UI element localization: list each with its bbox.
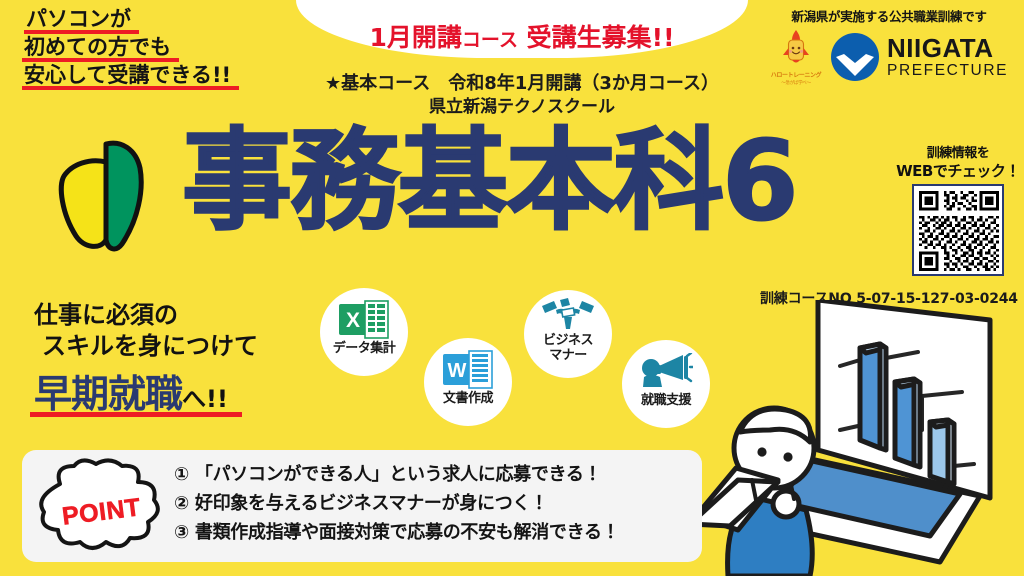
skill-circle-label-manner: ビジネス マナー: [543, 334, 593, 363]
banner-small-text: コース: [462, 29, 518, 51]
early-employment-underline: [30, 412, 242, 417]
early-employment-tail: へ!!: [182, 385, 228, 413]
word-document-icon: W: [442, 350, 494, 390]
skill-circle-label: データ集計: [333, 342, 396, 357]
point-list-item: ③ 書類作成指導や面接対策で応募の不安も解消できる！: [174, 518, 619, 547]
public-training-caption: 新潟県が実施する公共職業訓練です: [762, 6, 1016, 25]
qr-caption-line1: 訓練情報を: [896, 146, 1020, 162]
early-employment-emphasis: 早期就職: [34, 372, 182, 416]
skill-circle-label: 就職支援: [641, 394, 691, 409]
svg-text:X: X: [346, 309, 360, 332]
wakaba-leaf-mark-icon: [48, 134, 168, 254]
skills-headline: 仕事に必須の スキルを身につけて 早期就職へ!!: [34, 300, 258, 418]
top-left-headline-line-3: 安心して受講できる!!: [22, 62, 233, 90]
top-left-line-text: 安心して受講できる!!: [22, 62, 233, 90]
qr-caption-line2: WEBでチェック！: [896, 162, 1020, 180]
person-with-laptop-illustration: [690, 300, 1010, 576]
person-with-laptop-and-bar-chart-icon: [690, 300, 1010, 576]
point-list-item: ② 好印象を与えるビジネスマナーが身につく！: [174, 489, 619, 518]
point-list-item: ① 「パソコンができる人」という求人に応募できる！: [174, 460, 619, 489]
course-schedule-text: ★基本コース 令和8年1月開講（3か月コース）: [296, 72, 748, 96]
business-card-exchange-icon: [540, 298, 596, 332]
qr-block: 訓練情報を WEBでチェック！: [896, 146, 1020, 276]
point-box: POINT ① 「パソコンができる人」という求人に応募できる！ ② 好印象を与え…: [22, 450, 702, 562]
qr-code[interactable]: [912, 184, 1004, 276]
prefecture-block: 新潟県が実施する公共職業訓練です ハロートレーニング 〜急がば学べ〜: [762, 6, 1016, 86]
megaphone-icon: [639, 352, 693, 392]
niigata-prefecture-logo: NIIGATA PREFECTURE: [830, 32, 1008, 82]
poster-canvas: パソコンが 初めての方でも 安心して受講できる!! 1月開講コース 受講生募集!…: [0, 0, 1024, 576]
skills-headline-line2: スキルを身につけて: [42, 331, 258, 362]
prefecture-logo-row: ハロートレーニング 〜急がば学べ〜 NIIGATA PREFECTURE: [762, 28, 1016, 86]
top-left-line-text: パソコンが: [24, 6, 133, 34]
top-left-headline-line-1: パソコンが: [24, 6, 233, 34]
top-left-headline-line-2: 初めての方でも: [22, 34, 233, 62]
rocket-mascot-icon: [779, 28, 813, 68]
skill-circle-label-line1: ビジネス: [543, 334, 593, 349]
point-list: ① 「パソコンができる人」という求人に応募できる！ ② 好印象を与えるビジネスマ…: [174, 460, 619, 547]
skill-circle-label-line2: マナー: [543, 349, 593, 364]
niigata-logo-line1: NIIGATA: [887, 35, 1008, 61]
skills-headline-line3: 早期就職へ!!: [34, 363, 258, 418]
skill-circle-word[interactable]: W 文書作成: [424, 338, 512, 426]
excel-spreadsheet-icon: X: [338, 300, 390, 340]
top-left-headline: パソコンが 初めての方でも 安心して受講できる!!: [22, 6, 233, 90]
school-name-text: 県立新潟テクノスクール: [296, 96, 748, 118]
qr-caption: 訓練情報を WEBでチェック！: [896, 146, 1020, 180]
skill-circle-label: 文書作成: [443, 392, 493, 407]
recruitment-banner-text: 1月開講コース 受講生募集!!: [370, 18, 675, 54]
niigata-logo-line2: PREFECTURE: [887, 63, 1008, 79]
banner-tail-text: 受講生募集!!: [518, 23, 675, 52]
wakaba-leaf-mark: [48, 134, 168, 258]
niigata-mountain-circle-icon: [830, 32, 880, 82]
hello-training-logo: ハロートレーニング 〜急がば学べ〜: [768, 28, 824, 86]
skill-circle-manner[interactable]: ビジネス マナー: [524, 290, 612, 378]
skill-circle-excel[interactable]: X データ集計: [320, 288, 408, 376]
page-title: 事務基本科6: [182, 126, 797, 236]
hello-training-sublabel: 〜急がば学べ〜: [768, 80, 824, 86]
qr-code-icon: [919, 191, 999, 271]
skills-headline-line1: 仕事に必須の: [34, 300, 258, 331]
niigata-wordmark: NIIGATA PREFECTURE: [887, 35, 1008, 79]
hello-training-label: ハロートレーニング: [768, 73, 824, 80]
banner-main-text: 1月開講: [370, 23, 462, 52]
recruitment-banner: 1月開講コース 受講生募集!!: [296, 0, 748, 58]
top-left-line-text: 初めての方でも: [22, 34, 173, 62]
course-subheadline: ★基本コース 令和8年1月開講（3か月コース） 県立新潟テクノスクール: [296, 72, 748, 118]
svg-text:W: W: [448, 360, 467, 382]
